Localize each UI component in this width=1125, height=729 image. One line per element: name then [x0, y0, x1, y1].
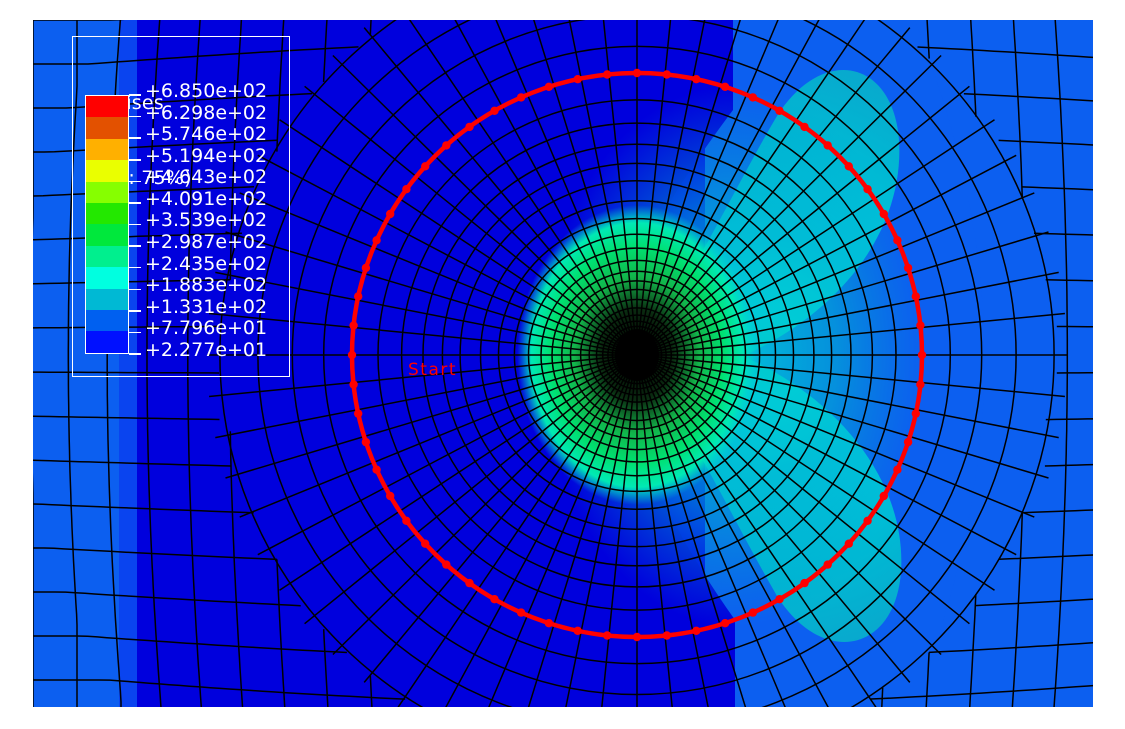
screenshot-root: Start S, Mises (Avg: 75%) +6.850e+02+6.2…	[0, 0, 1125, 729]
fea-viewport[interactable]: Start	[33, 20, 1093, 707]
field-band-left-edge	[119, 20, 137, 707]
field-band-left	[33, 20, 125, 707]
start-label: Start	[408, 360, 457, 380]
contour-plot-svg	[33, 20, 1093, 707]
